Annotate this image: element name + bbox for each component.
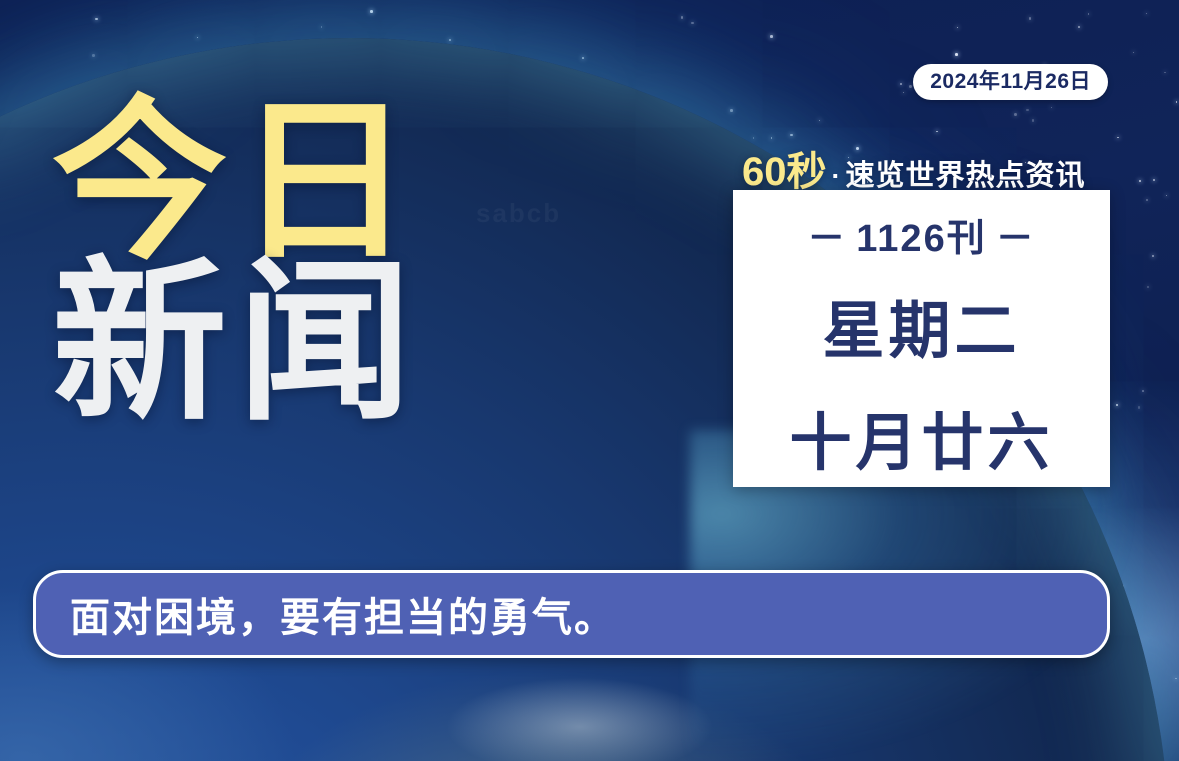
tagline-separator: · — [827, 161, 846, 191]
issue-number-row: －1126刊－ — [798, 207, 1044, 262]
lunar-date-label: 十月廿六 — [789, 392, 1053, 482]
issue-dash-left: － — [798, 218, 856, 260]
quote-text: 面对困境，要有担当的勇气。 — [36, 585, 616, 643]
news-poster: sabcb 2024年11月26日 今日 新闻 60秒·速览世界热点资讯 －11… — [0, 0, 1179, 761]
page-title-line2: 新闻 — [52, 257, 422, 430]
page-title: 今日 新闻 — [52, 96, 422, 431]
issue-info-card: －1126刊－ 星期二 十月廿六 — [733, 190, 1110, 487]
weekday-label: 星期二 — [822, 280, 1020, 370]
issue-number: 1126刊 — [856, 218, 986, 260]
quote-bar: 面对困境，要有担当的勇气。 — [33, 570, 1110, 658]
date-badge: 2024年11月26日 — [913, 64, 1108, 100]
page-title-line1: 今日 — [52, 96, 422, 269]
issue-dash-right: － — [987, 218, 1045, 260]
tagline-text: 速览世界热点资讯 — [846, 160, 1086, 192]
tagline: 60秒·速览世界热点资讯 — [742, 139, 1086, 197]
tagline-seconds: 60秒 — [742, 150, 827, 194]
